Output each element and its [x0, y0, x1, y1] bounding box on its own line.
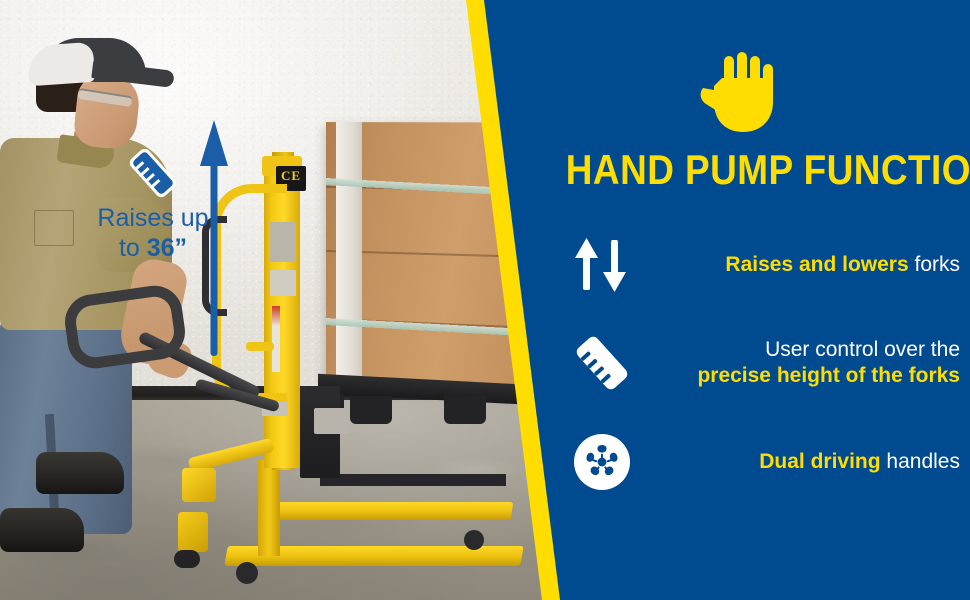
- feature-highlight: Raises and lowers: [725, 253, 908, 276]
- raises-caption-line2: to 36”: [74, 234, 232, 264]
- caster-wheel: [236, 562, 258, 584]
- raises-caption-line1: Raises up: [97, 204, 208, 232]
- feature-panel-content: HAND PUMP FUNCTION Raises and lowers for: [540, 0, 970, 600]
- worker-boot: [36, 452, 124, 494]
- wheel-icon-circle: [574, 434, 630, 490]
- wheel-icon: [558, 434, 646, 490]
- raises-caption-value: 36”: [147, 234, 187, 262]
- infographic-root: CE: [0, 0, 970, 600]
- feature-regular: forks: [909, 253, 960, 276]
- carriage-bracket: [314, 408, 350, 434]
- feature-line: precise height of the forks: [646, 363, 960, 389]
- feature-line: Dual driving handles: [646, 449, 960, 475]
- worker-shirt-pocket: [34, 210, 74, 246]
- raises-caption-prefix: to: [119, 234, 147, 262]
- page-title: HAND PUMP FUNCTION: [566, 146, 944, 194]
- feature-line: Raises and lowers forks: [646, 252, 960, 278]
- hand-icon: [695, 52, 785, 134]
- feature-highlight: precise height of the forks: [697, 364, 960, 387]
- raises-caption: Raises up to 36”: [74, 204, 232, 263]
- feature-item-raises-lowers: Raises and lowers forks: [558, 228, 970, 302]
- feature-highlight: Dual driving: [759, 450, 880, 473]
- ruler-icon: [558, 332, 646, 394]
- feature-item-precise-height: User control over the precise height of …: [558, 322, 970, 404]
- worker-boot: [0, 508, 84, 552]
- feature-text: Dual driving handles: [646, 449, 970, 475]
- feature-line: User control over the: [646, 337, 960, 363]
- fork-carriage-shadow: [320, 474, 506, 486]
- product-photo: CE: [0, 0, 560, 600]
- pallet-stacker: CE: [196, 130, 560, 550]
- pump-lever: [246, 342, 274, 351]
- worker-cap-front-panel: [27, 42, 96, 87]
- up-down-arrows-icon: [558, 236, 646, 294]
- feature-item-dual-handles: Dual driving handles: [558, 424, 970, 500]
- stacker-base-column: [258, 460, 280, 556]
- feature-text: User control over the precise height of …: [646, 337, 970, 390]
- feature-text: Raises and lowers forks: [646, 252, 970, 278]
- ruler-icon: [122, 142, 184, 204]
- feature-regular: User control over the: [765, 338, 960, 361]
- stacker-leg: [261, 502, 514, 520]
- feature-regular: handles: [881, 450, 960, 473]
- caster-wheel: [464, 530, 484, 550]
